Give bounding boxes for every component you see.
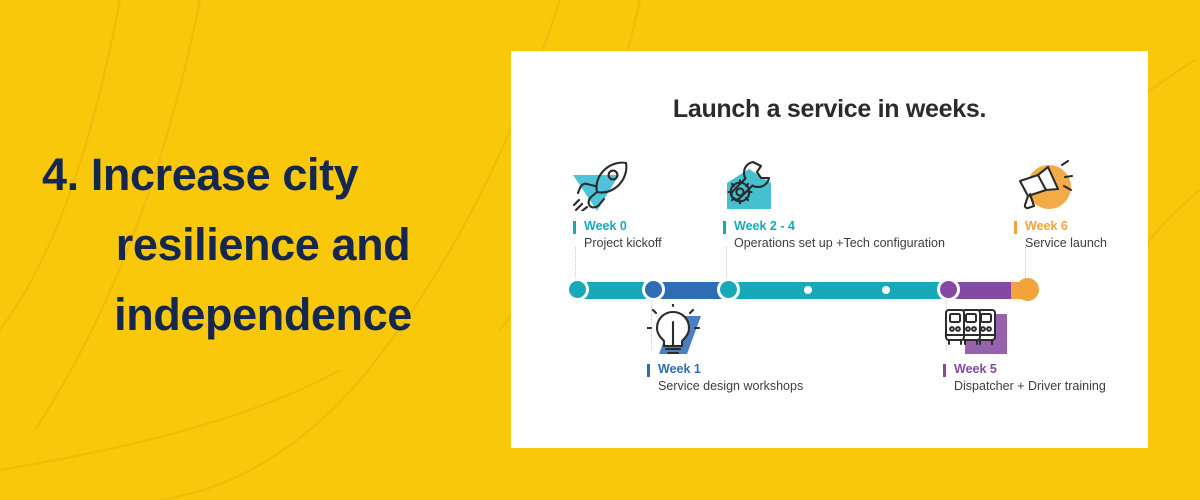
- week6-label: Week 6: [1014, 219, 1107, 234]
- headline-line-3: independence: [38, 280, 488, 350]
- week2-label: Week 2 - 4: [723, 219, 945, 234]
- week5-label: Week 5: [943, 362, 1106, 377]
- week5-accent-bar: [943, 364, 946, 377]
- milestone-week-2-4[interactable]: Week 2 - 4 Operations set up +Tech confi…: [723, 159, 945, 251]
- node-week1[interactable]: [642, 278, 665, 301]
- week0-label: Week 0: [573, 219, 662, 234]
- week6-description: Service launch: [1014, 235, 1107, 251]
- connector-week0: [575, 247, 576, 281]
- week6-icon-group: [1014, 159, 1078, 211]
- milestone-week-5[interactable]: Week 5 Dispatcher + Driver training: [943, 304, 1106, 394]
- week0-description: Project kickoff: [573, 235, 662, 251]
- timeline-segment-week2-week5: [729, 282, 949, 299]
- headline-line-1: 4. Increase city: [38, 140, 488, 210]
- dispatch-console-icon: [943, 304, 1009, 356]
- milestone-week-6[interactable]: Week 6 Service launch: [1014, 159, 1107, 251]
- timeline-tick-dot: [804, 286, 812, 294]
- timeline-tick-dot: [882, 286, 890, 294]
- milestone-week-1[interactable]: Week 1 Service design workshops: [647, 304, 803, 394]
- week1-week-text: Week 1: [658, 362, 803, 377]
- page-title: 4. Increase city resilience and independ…: [38, 140, 488, 351]
- week2-icon-group: [723, 159, 787, 211]
- week2-week-text: Week 2 - 4: [734, 219, 945, 234]
- node-week2[interactable]: [717, 278, 740, 301]
- week1-description: Service design workshops: [647, 378, 803, 394]
- week0-icon-group: [573, 159, 637, 211]
- rocket-icon: [573, 159, 635, 211]
- week5-description: Dispatcher + Driver training: [943, 378, 1106, 394]
- node-week5[interactable]: [937, 278, 960, 301]
- node-week0[interactable]: [566, 278, 589, 301]
- timeline-card: Launch a service in weeks.: [511, 51, 1148, 448]
- week6-week-text: Week 6: [1025, 219, 1107, 234]
- week0-accent-bar: [573, 221, 576, 234]
- wrench-gear-icon: [723, 159, 785, 211]
- node-week6[interactable]: [1016, 278, 1039, 301]
- connector-week6: [1025, 247, 1026, 281]
- week5-week-text: Week 5: [954, 362, 1106, 377]
- timeline-graphic: Week 0 Project kickoff: [511, 51, 1148, 448]
- megaphone-icon: [1014, 159, 1076, 211]
- week5-icon-group: [943, 304, 1007, 356]
- week1-label: Week 1: [647, 362, 803, 377]
- week6-accent-bar: [1014, 221, 1017, 234]
- week2-accent-bar: [723, 221, 726, 234]
- week1-icon-group: [647, 304, 711, 356]
- lightbulb-icon: [647, 304, 709, 356]
- slide-canvas: 4. Increase city resilience and independ…: [0, 0, 1200, 500]
- headline-line-2: resilience and: [38, 210, 488, 280]
- week1-accent-bar: [647, 364, 650, 377]
- week2-description: Operations set up +Tech configuration: [723, 235, 945, 251]
- milestone-week-0[interactable]: Week 0 Project kickoff: [573, 159, 662, 251]
- week0-week-text: Week 0: [584, 219, 662, 234]
- connector-week2: [726, 247, 727, 281]
